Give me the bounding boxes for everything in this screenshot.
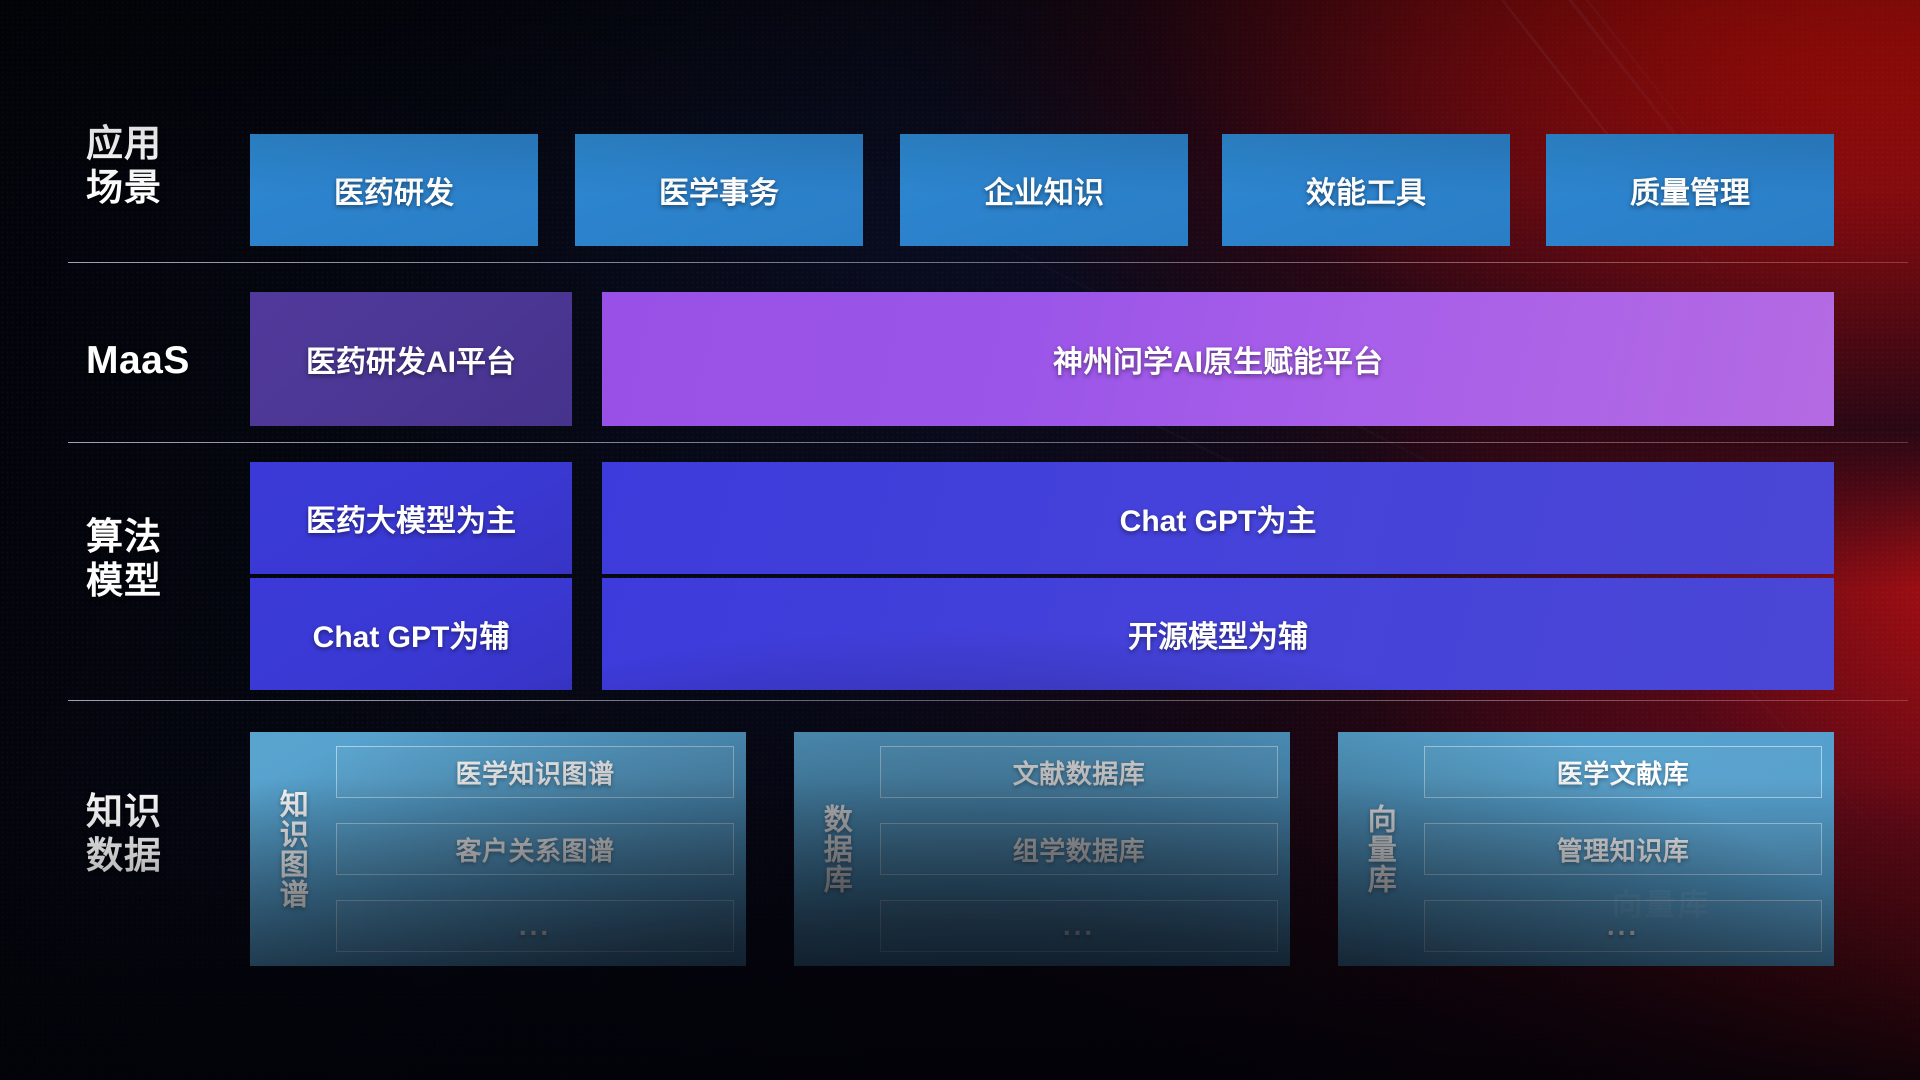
background-vignette: [0, 0, 1920, 1080]
architecture-diagram-canvas: 应用 场景 医药研发 医学事务 企业知识 效能工具 质量管理 MaaS 医药研发…: [0, 0, 1920, 1080]
